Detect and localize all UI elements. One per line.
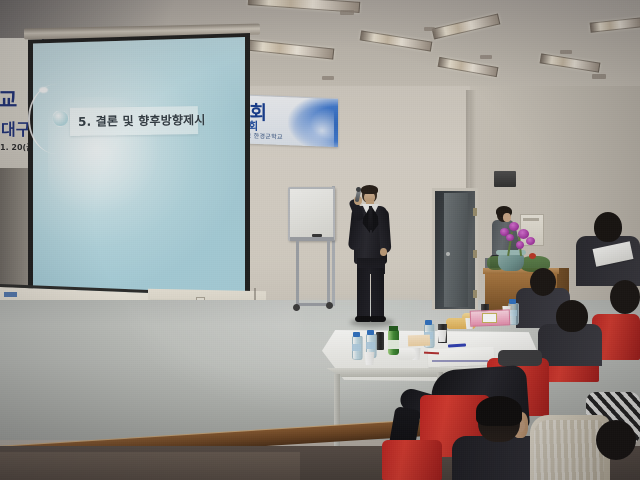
- whiteboard-caster: [326, 302, 333, 309]
- slide-title-text: 5. 결론 및 향후방향제시: [78, 111, 198, 130]
- whiteboard-caster: [293, 304, 300, 311]
- dark-can: [376, 332, 384, 350]
- bottle-label: [366, 342, 375, 349]
- door-knob: [446, 252, 450, 256]
- seated-woman-face: [503, 213, 511, 222]
- audience-member-head: [594, 212, 622, 242]
- bottle-cap: [509, 299, 516, 304]
- lower-floor-front: [0, 452, 300, 480]
- audience-member-head: [556, 300, 588, 332]
- whiteboard-marker: [312, 234, 322, 237]
- audience-member-head: [530, 268, 556, 296]
- bottle-label: [352, 344, 361, 351]
- ceiling-vent: [592, 74, 606, 79]
- ceiling-vent: [340, 10, 354, 15]
- bottle-label: [388, 340, 399, 349]
- audience-member-head: [596, 420, 636, 460]
- audience-member-hair: [476, 396, 522, 426]
- orchid-bloom: [506, 234, 514, 241]
- slide-bubble-decoration: [52, 110, 69, 127]
- door-hinge: [473, 208, 477, 216]
- presenter-shoe: [355, 316, 371, 322]
- orchid-bloom: [526, 237, 535, 245]
- banner-highlight: [294, 105, 334, 147]
- cabinet-badge: [4, 292, 17, 297]
- orchid-bloom: [509, 222, 519, 231]
- projection-screen: [33, 37, 245, 299]
- conference-hall-photo: 교 대 대구 · 1. 20(금) 1 표회 표회 대학교 한경군학교 5. 결…: [0, 0, 640, 480]
- ceiling-vent: [560, 50, 572, 54]
- door-panel: [444, 193, 468, 307]
- whiteboard-surface: [290, 189, 333, 237]
- presenter-hair: [361, 185, 378, 194]
- door-hinge: [473, 290, 477, 298]
- bottle-cap: [353, 332, 360, 337]
- slide-dot-decoration: [39, 87, 48, 93]
- sweater-knit-texture: [534, 420, 604, 480]
- whiteboard-base-bar: [296, 303, 330, 306]
- whiteboard-leg: [296, 241, 299, 307]
- presenter-right-hand: [380, 248, 387, 256]
- ceiling-vent: [322, 76, 334, 80]
- bottle-cap: [425, 320, 432, 325]
- orchid-bloom: [516, 241, 524, 249]
- paper-binding: [432, 360, 488, 362]
- ceiling-vent: [480, 55, 492, 59]
- door-hinge: [473, 250, 477, 258]
- audience-seat: [382, 440, 442, 480]
- bottle-cap: [389, 326, 398, 331]
- presenter-shoe: [370, 316, 386, 322]
- presenter-leg: [371, 268, 384, 320]
- box-item: [408, 335, 430, 347]
- seat-headrest: [498, 350, 542, 366]
- presenter-leg: [357, 268, 370, 320]
- microphone-head: [356, 187, 361, 192]
- snack-box-label: [482, 313, 497, 323]
- ceiling-vent: [424, 27, 435, 31]
- bottle-cap: [367, 330, 374, 335]
- whiteboard-leg: [327, 241, 330, 305]
- papers-on-table: [428, 347, 495, 367]
- audience-member-head: [610, 280, 640, 314]
- wall-unit-slot: [523, 218, 539, 221]
- wall-speaker-box: [494, 171, 516, 187]
- red-flower: [529, 253, 536, 259]
